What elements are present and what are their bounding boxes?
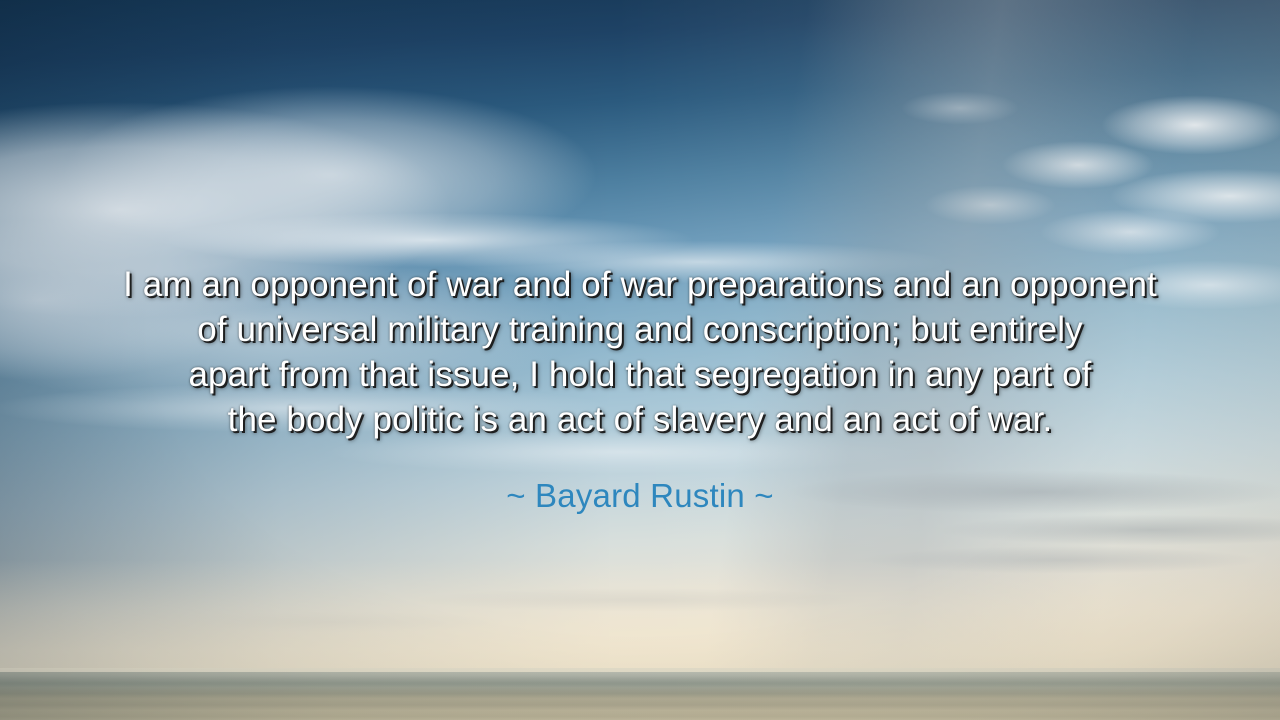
quote-attribution: ~ Bayard Rustin ~ xyxy=(0,442,1280,516)
quote-card: I am an opponent of war and of war prepa… xyxy=(0,0,1280,720)
quote-overlay: I am an opponent of war and of war prepa… xyxy=(0,262,1280,516)
quote-text: I am an opponent of war and of war prepa… xyxy=(0,262,1280,442)
